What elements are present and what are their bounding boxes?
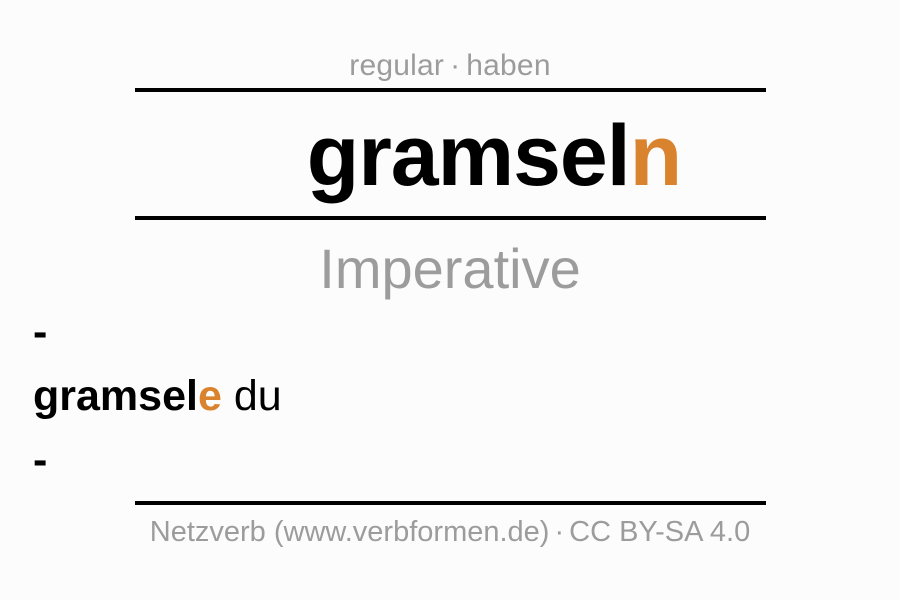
footer-license: CC BY-SA 4.0 bbox=[569, 516, 750, 548]
verb-meta: regular·haben bbox=[0, 46, 900, 86]
headword-stem: gramsel bbox=[307, 108, 630, 204]
german-flag-icon bbox=[219, 127, 281, 189]
conjugation-card: regular·haben gramseln Imperative - gram… bbox=[0, 0, 900, 600]
headword: gramseln bbox=[307, 108, 681, 204]
rule-top bbox=[135, 88, 766, 92]
form-cell-right-3: gramselnSie bbox=[444, 428, 900, 492]
headword-row: gramseln bbox=[0, 104, 900, 208]
headword-ending: n bbox=[630, 108, 682, 204]
footer-source: Netzverb (www.verbformen.de) bbox=[150, 516, 550, 548]
auxiliary-label: haben bbox=[466, 49, 550, 82]
empty-marker: - bbox=[33, 428, 47, 492]
empty-marker: - bbox=[33, 300, 47, 364]
form-pronoun: du bbox=[222, 364, 282, 428]
footer-attribution: Netzverb (www.verbformen.de)·CC BY-SA 4.… bbox=[0, 512, 900, 552]
conjugation-grid: - gramselnwir gramseledu gramseltihr - g… bbox=[0, 300, 900, 492]
form-suffix: e bbox=[198, 364, 222, 428]
footer-separator: · bbox=[549, 516, 569, 548]
form-cell-right-1: gramselnwir bbox=[444, 300, 900, 364]
verb-type-label: regular bbox=[349, 49, 444, 82]
rule-bottom bbox=[135, 501, 766, 505]
form-cell-left-2: gramseledu bbox=[0, 364, 444, 428]
form-cell-right-2: gramseltihr bbox=[444, 364, 900, 428]
rule-middle bbox=[135, 216, 766, 220]
form-cell-left-1: - bbox=[0, 300, 444, 364]
form-stem: gramsel bbox=[33, 364, 198, 428]
meta-separator: · bbox=[444, 49, 466, 82]
form-cell-left-3: - bbox=[0, 428, 444, 492]
mood-title: Imperative bbox=[0, 236, 900, 302]
